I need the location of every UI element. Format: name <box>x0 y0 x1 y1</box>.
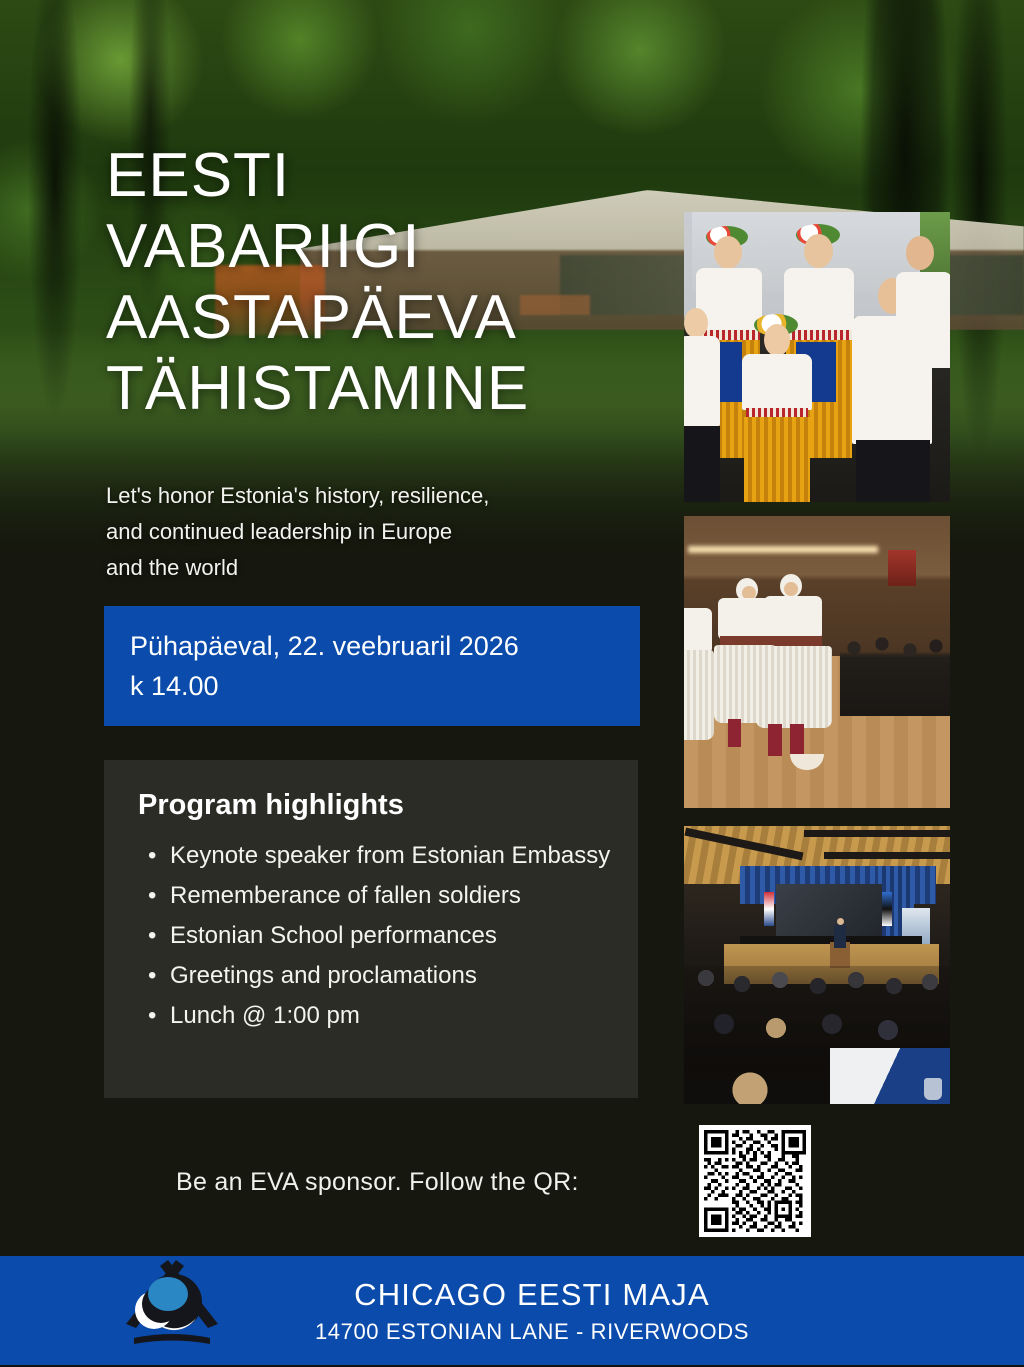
folk-skirt <box>744 417 810 502</box>
sponsor-callout-text: Be an EVA sponsor. Follow the QR: <box>176 1168 579 1197</box>
choir-member-trousers <box>684 426 720 502</box>
choir-member-head <box>804 234 833 268</box>
program-highlights-list: Keynote speaker from Estonian Embassy Re… <box>124 836 614 1036</box>
subtitle-line-3: and the world <box>106 550 666 586</box>
subtitle-line-1: Let's honor Estonia's history, resilienc… <box>106 478 666 514</box>
choir-member-head <box>764 324 790 356</box>
choir-member-trousers <box>856 440 930 502</box>
dancer-belt <box>720 636 770 645</box>
event-date-banner: Pühapäeval, 22. veebruaril 2026 k 14.00 <box>104 606 640 726</box>
dancer-skirt <box>714 645 776 723</box>
list-item: Keynote speaker from Estonian Embassy <box>124 836 614 876</box>
headline-line-2: VABARIIGI <box>106 211 706 282</box>
photo-folk-dancers <box>684 516 950 808</box>
choir-member-head <box>684 308 708 338</box>
poster-subtitle: Let's honor Estonia's history, resilienc… <box>106 478 666 586</box>
speaker-person <box>834 924 846 948</box>
projection-screen <box>776 884 882 936</box>
dancer-belt <box>766 636 822 646</box>
drink-cup <box>924 1078 942 1100</box>
headline-line-1: EESTI <box>106 140 706 211</box>
folk-belt <box>746 408 808 417</box>
dancer-stocking <box>768 724 782 756</box>
dancer-blouse <box>684 608 712 654</box>
wall-light-strip <box>688 546 878 553</box>
qr-code-icon <box>704 1130 806 1232</box>
subtitle-line-2: and continued leadership in Europe <box>106 514 666 550</box>
poster-headline: EESTI VABARIIGI AASTAPÄEVA TÄHISTAMINE <box>106 140 706 424</box>
choir-member-head <box>906 236 934 270</box>
choir-member-shirt <box>896 272 950 368</box>
dancer-stocking <box>790 724 804 754</box>
wall-painting <box>888 550 916 586</box>
ceiling-beam <box>804 830 950 837</box>
photo-auditorium-event <box>684 826 950 1104</box>
headline-line-3: AASTAPÄEVA <box>106 282 706 353</box>
list-item: Rememberance of fallen soldiers <box>124 876 614 916</box>
list-item: Estonian School performances <box>124 916 614 956</box>
event-date-line: Pühapäeval, 22. veebruaril 2026 <box>130 626 640 666</box>
dancer-face <box>784 582 798 596</box>
dancer-skirt <box>684 650 714 740</box>
choir-member-head <box>714 236 742 269</box>
auditorium-scene <box>684 826 950 1104</box>
dancers-scene <box>684 516 950 808</box>
footer-organization-name: CHICAGO EESTI MAJA <box>354 1274 710 1316</box>
choir-scene <box>684 212 950 502</box>
sponsor-qr-code[interactable] <box>699 1125 811 1237</box>
ceiling-beam <box>824 852 950 859</box>
speaker-head <box>837 918 844 925</box>
list-item: Greetings and proclamations <box>124 956 614 996</box>
list-item: Lunch @ 1:00 pm <box>124 996 614 1036</box>
footer-text-block: CHICAGO EESTI MAJA 14700 ESTONIAN LANE -… <box>0 1256 1024 1365</box>
program-highlights-title: Program highlights <box>138 786 614 824</box>
folk-belt <box>786 330 852 340</box>
dancer-blouse <box>718 598 770 640</box>
dancer-stocking <box>728 719 741 747</box>
footer-address: 14700 ESTONIAN LANE - RIVERWOODS <box>315 1316 749 1348</box>
us-flag <box>764 892 774 926</box>
event-time-line: k 14.00 <box>130 666 640 706</box>
seated-audience <box>840 626 950 716</box>
headline-line-4: TÄHISTAMINE <box>106 353 706 424</box>
estonian-flag <box>882 892 892 926</box>
choir-member-blouse <box>742 354 812 410</box>
choir-member-shirt <box>684 336 720 426</box>
dancer-blouse <box>764 596 822 640</box>
photo-childrens-choir <box>684 212 950 502</box>
program-highlights-panel: Program highlights Keynote speaker from … <box>104 760 638 1098</box>
